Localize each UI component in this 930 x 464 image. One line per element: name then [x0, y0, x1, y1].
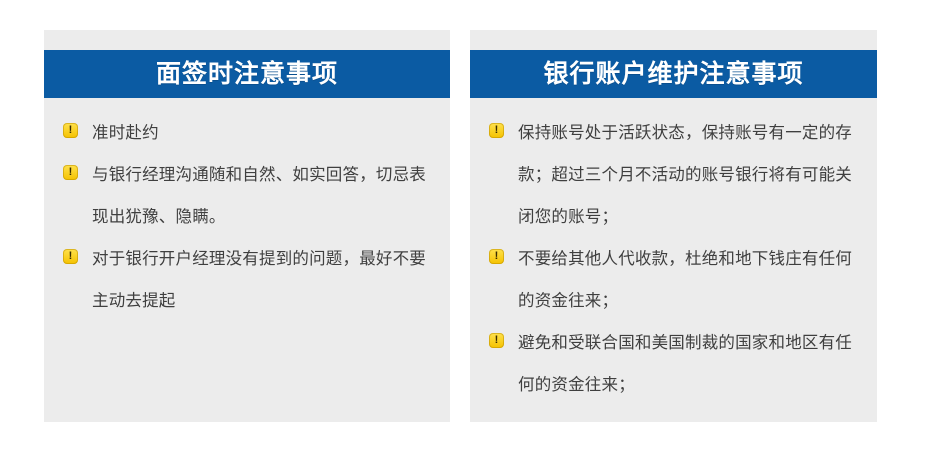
- warning-exclamation-icon: [489, 123, 504, 138]
- list-item: 与银行经理沟通随和自然、如实回答，切忌表现出犹豫、隐瞒。: [44, 154, 436, 238]
- list-item-text: 与银行经理沟通随和自然、如实回答，切忌表现出犹豫、隐瞒。: [92, 154, 436, 238]
- list-item: 保持账号处于活跃状态，保持账号有一定的存款；超过三个月不活动的账号银行将有可能关…: [470, 112, 863, 238]
- warning-exclamation-icon: [63, 165, 78, 180]
- warning-exclamation-icon: [489, 249, 504, 264]
- panel-body: 准时赴约 与银行经理沟通随和自然、如实回答，切忌表现出犹豫、隐瞒。 对于银行开户…: [44, 112, 450, 322]
- infographic-canvas: 面签时注意事项 准时赴约 与银行经理沟通随和自然、如实回答，切忌表现出犹豫、隐瞒…: [0, 0, 930, 464]
- list-item-text: 避免和受联合国和美国制裁的国家和地区有任何的资金往来；: [518, 322, 863, 406]
- warning-exclamation-icon: [63, 123, 78, 138]
- panel-body: 保持账号处于活跃状态，保持账号有一定的存款；超过三个月不活动的账号银行将有可能关…: [470, 112, 877, 406]
- panel-account-maintenance-notes: 银行账户维护注意事项 保持账号处于活跃状态，保持账号有一定的存款；超过三个月不活…: [470, 30, 877, 422]
- panel-title: 银行账户维护注意事项: [543, 62, 803, 87]
- panel-interview-notes: 面签时注意事项 准时赴约 与银行经理沟通随和自然、如实回答，切忌表现出犹豫、隐瞒…: [44, 30, 450, 422]
- list-item-text: 对于银行开户经理没有提到的问题，最好不要主动去提起: [92, 238, 436, 322]
- list-item: 不要给其他人代收款，杜绝和地下钱庄有任何的资金往来；: [470, 238, 863, 322]
- panel-header-bar: 银行账户维护注意事项: [470, 50, 877, 98]
- panel-title: 面签时注意事项: [156, 62, 338, 87]
- list-item: 避免和受联合国和美国制裁的国家和地区有任何的资金往来；: [470, 322, 863, 406]
- list-item-text: 不要给其他人代收款，杜绝和地下钱庄有任何的资金往来；: [518, 238, 863, 322]
- list-item-text: 准时赴约: [92, 112, 436, 154]
- warning-exclamation-icon: [63, 249, 78, 264]
- warning-exclamation-icon: [489, 333, 504, 348]
- list-item: 对于银行开户经理没有提到的问题，最好不要主动去提起: [44, 238, 436, 322]
- list-item-text: 保持账号处于活跃状态，保持账号有一定的存款；超过三个月不活动的账号银行将有可能关…: [518, 112, 863, 238]
- list-item: 准时赴约: [44, 112, 436, 154]
- panel-header-bar: 面签时注意事项: [44, 50, 450, 98]
